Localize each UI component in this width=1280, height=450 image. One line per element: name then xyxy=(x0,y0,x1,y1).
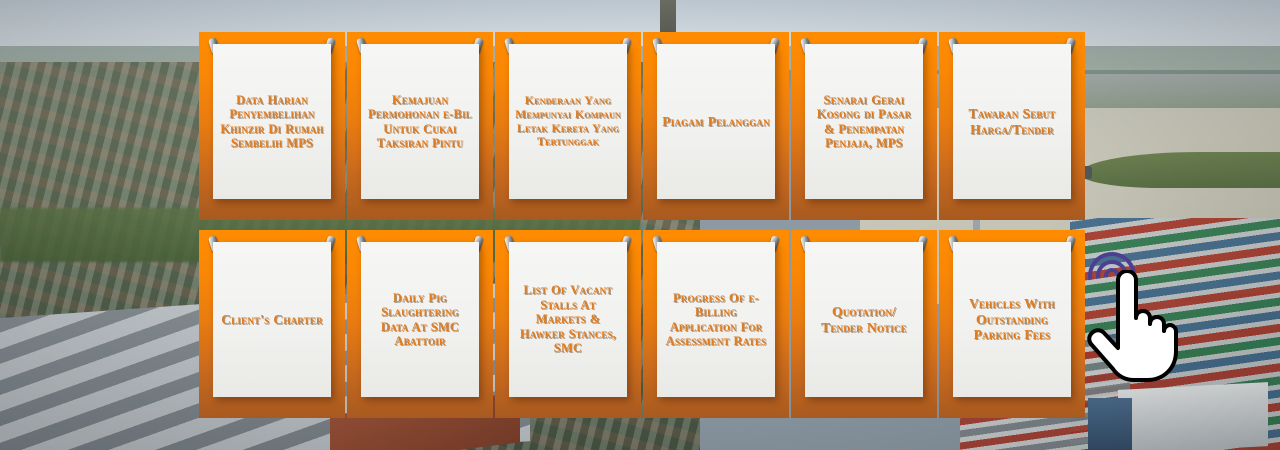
screen-root: Data Harian Penyembelihan Khinzir Di Rum… xyxy=(0,0,1280,450)
tile-paper: List Of Vacant Stalls At Markets & Hawke… xyxy=(509,242,627,397)
tile-row-2: Client's Charter Daily Pig Slaughtering … xyxy=(199,230,1087,418)
tile-progress-of-ebilling-application[interactable]: Progress Of e-Billing Application For As… xyxy=(643,230,789,418)
tile-paper: Kenderaan Yang Mempunyai Kompaun Letak K… xyxy=(509,44,627,199)
tile-daily-pig-slaughtering-data[interactable]: Daily Pig Slaughtering Data At SMC Abatt… xyxy=(347,230,493,418)
tile-senarai-gerai-kosong[interactable]: Senarai Gerai Kosong di Pasar & Penempat… xyxy=(791,32,937,220)
tile-label: List Of Vacant Stalls At Markets & Hawke… xyxy=(514,283,622,356)
tile-label: Kenderaan Yang Mempunyai Kompaun Letak K… xyxy=(514,94,622,149)
tile-paper: Vehicles With Outstanding Parking Fees xyxy=(953,242,1071,397)
tile-vehicles-with-outstanding-parking-fees[interactable]: Vehicles With Outstanding Parking Fees xyxy=(939,230,1085,418)
tile-label: Kemajuan Permohonan e-Bil Untuk Cukai Ta… xyxy=(366,93,474,151)
tile-label: Vehicles With Outstanding Parking Fees xyxy=(958,296,1066,343)
tile-label: Tawaran Sebut Harga/Tender xyxy=(958,106,1066,137)
tile-paper: Client's Charter xyxy=(213,242,331,397)
tile-kenderaan-kompaun-letak-kereta[interactable]: Kenderaan Yang Mempunyai Kompaun Letak K… xyxy=(495,32,641,220)
tile-piagam-pelanggan[interactable]: Piagam Pelanggan xyxy=(643,32,789,220)
tile-label: Progress Of e-Billing Application For As… xyxy=(662,291,770,349)
tile-label: Client's Charter xyxy=(221,312,323,328)
tile-paper: Quotation/ Tender Notice xyxy=(805,242,923,397)
tile-row-1: Data Harian Penyembelihan Khinzir Di Rum… xyxy=(199,32,1087,220)
service-tile-grid: Data Harian Penyembelihan Khinzir Di Rum… xyxy=(199,32,1087,418)
tile-paper: Data Harian Penyembelihan Khinzir Di Rum… xyxy=(213,44,331,199)
tile-label: Quotation/ Tender Notice xyxy=(810,304,918,335)
tile-paper: Daily Pig Slaughtering Data At SMC Abatt… xyxy=(361,242,479,397)
tile-paper: Senarai Gerai Kosong di Pasar & Penempat… xyxy=(805,44,923,199)
tile-data-harian-penyembelihan[interactable]: Data Harian Penyembelihan Khinzir Di Rum… xyxy=(199,32,345,220)
tile-label: Daily Pig Slaughtering Data At SMC Abatt… xyxy=(366,291,474,349)
tile-clients-charter[interactable]: Client's Charter xyxy=(199,230,345,418)
tile-paper: Progress Of e-Billing Application For As… xyxy=(657,242,775,397)
tile-tawaran-sebut-harga-tender[interactable]: Tawaran Sebut Harga/Tender xyxy=(939,32,1085,220)
tile-paper: Tawaran Sebut Harga/Tender xyxy=(953,44,1071,199)
tile-list-of-vacant-stalls[interactable]: List Of Vacant Stalls At Markets & Hawke… xyxy=(495,230,641,418)
tile-paper: Piagam Pelanggan xyxy=(657,44,775,199)
tile-paper: Kemajuan Permohonan e-Bil Untuk Cukai Ta… xyxy=(361,44,479,199)
tile-kemajuan-permohonan-ebil[interactable]: Kemajuan Permohonan e-Bil Untuk Cukai Ta… xyxy=(347,32,493,220)
tile-label: Senarai Gerai Kosong di Pasar & Penempat… xyxy=(810,93,918,151)
tile-label: Data Harian Penyembelihan Khinzir Di Rum… xyxy=(218,93,326,151)
tile-label: Piagam Pelanggan xyxy=(662,114,770,130)
tile-quotation-tender-notice[interactable]: Quotation/ Tender Notice xyxy=(791,230,937,418)
